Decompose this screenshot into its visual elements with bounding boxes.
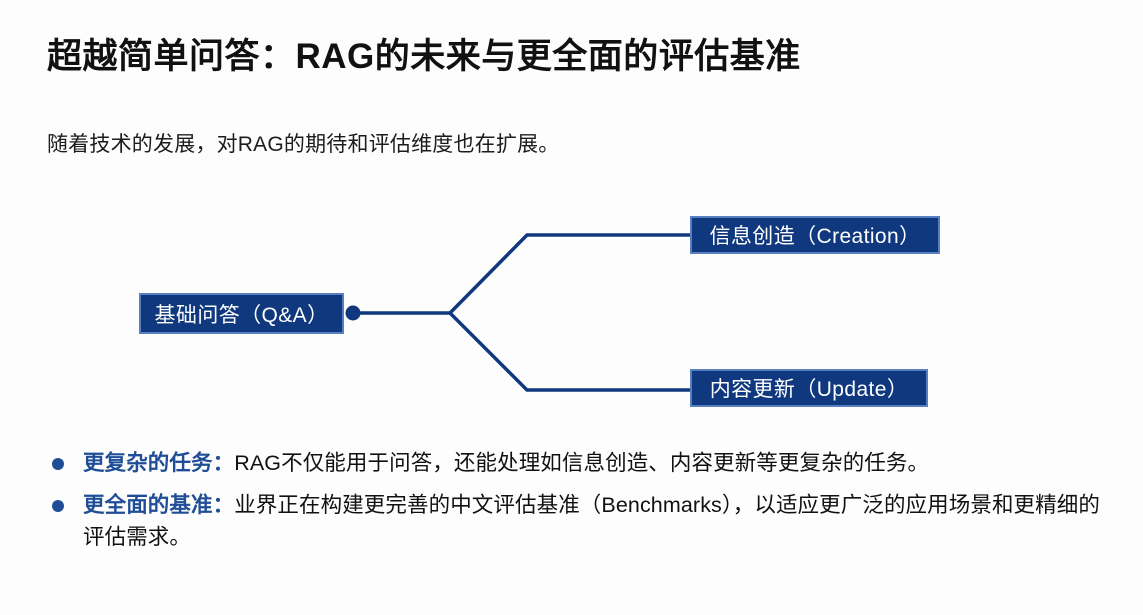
diagram-node-update-label: 内容更新（Update） <box>710 373 909 403</box>
bullet-dot-icon <box>52 500 64 512</box>
root-connector-dot <box>346 306 361 321</box>
slide-canvas: 超越简单问答：RAG的未来与更全面的评估基准 随着技术的发展，对RAG的期待和评… <box>0 0 1143 615</box>
diagram-node-root-label: 基础问答（Q&A） <box>155 299 329 329</box>
diagram-node-creation-label: 信息创造（Creation） <box>710 220 921 250</box>
list-item: 更复杂的任务：RAG不仅能用于问答，还能处理如信息创造、内容更新等更复杂的任务。 <box>47 448 1117 480</box>
slide-subtitle: 随着技术的发展，对RAG的期待和评估维度也在扩展。 <box>47 128 560 158</box>
bullet-label: 更全面的基准： <box>83 493 234 517</box>
connector-branch-creation <box>450 235 690 313</box>
bullet-list: 更复杂的任务：RAG不仅能用于问答，还能处理如信息创造、内容更新等更复杂的任务。… <box>47 448 1117 563</box>
diagram-node-update[interactable]: 内容更新（Update） <box>690 369 928 407</box>
list-item: 更全面的基准：业界正在构建更完善的中文评估基准（Benchmarks），以适应更… <box>47 490 1117 554</box>
connector-branch-update <box>450 313 690 390</box>
bullet-label: 更复杂的任务： <box>83 451 234 475</box>
diagram-node-creation[interactable]: 信息创造（Creation） <box>690 216 940 254</box>
rag-evolution-diagram: 基础问答（Q&A） 信息创造（Creation） 内容更新（Update） <box>0 180 1143 440</box>
bullet-dot-icon <box>52 458 64 470</box>
bullet-body: RAG不仅能用于问答，还能处理如信息创造、内容更新等更复杂的任务。 <box>234 451 929 475</box>
bullet-body: 业界正在构建更完善的中文评估基准（Benchmarks），以适应更广泛的应用场景… <box>83 493 1100 549</box>
page-title: 超越简单问答：RAG的未来与更全面的评估基准 <box>47 36 801 78</box>
diagram-node-root[interactable]: 基础问答（Q&A） <box>139 293 344 334</box>
